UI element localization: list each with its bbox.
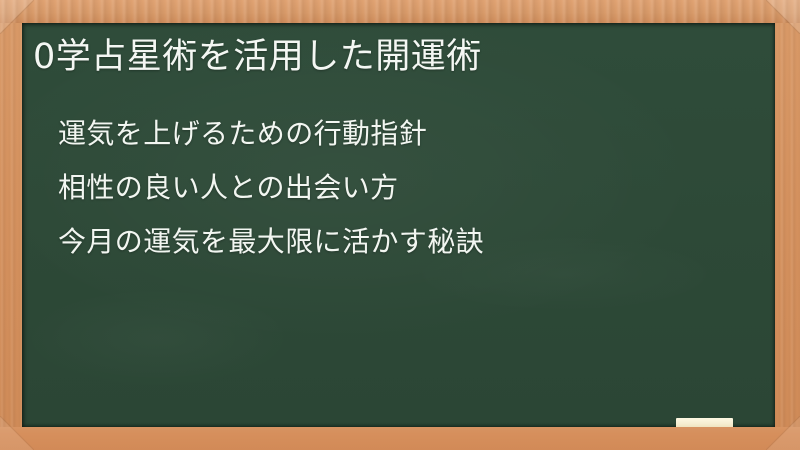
bullet-item-3: 今月の運気を最大限に活かす秘訣 [58, 215, 765, 269]
chalkboard-slide: 0学占星術を活用した開運術 運気を上げるための行動指針 相性の良い人との出会い方… [0, 0, 800, 450]
chalk-stick-icon [676, 418, 733, 427]
frame-top-rail [0, 0, 800, 23]
chalkboard-content: 0学占星術を活用した開運術 運気を上げるための行動指針 相性の良い人との出会い方… [22, 23, 775, 427]
bullet-item-1: 運気を上げるための行動指針 [58, 107, 765, 161]
bullet-item-2: 相性の良い人との出会い方 [58, 161, 765, 215]
chalkboard-surface: 0学占星術を活用した開運術 運気を上げるための行動指針 相性の良い人との出会い方… [22, 23, 775, 427]
slide-title: 0学占星術を活用した開運術 [33, 34, 482, 80]
frame-bottom-ledge [0, 427, 800, 450]
bullet-list: 運気を上げるための行動指針 相性の良い人との出会い方 今月の運気を最大限に活かす… [58, 107, 765, 269]
